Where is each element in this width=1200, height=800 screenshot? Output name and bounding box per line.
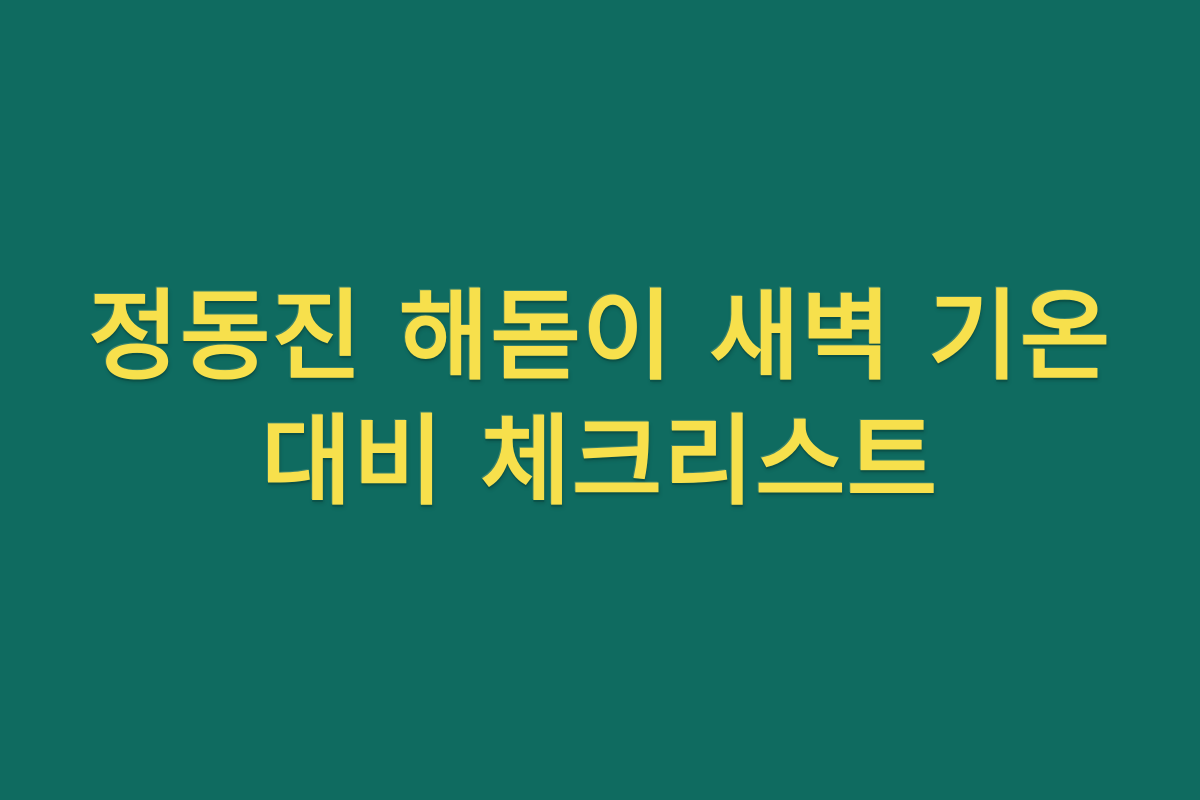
title-card: 정동진 해돋이 새벽 기온 대비 체크리스트 xyxy=(0,0,1200,800)
headline-block: 정동진 해돋이 새벽 기온 대비 체크리스트 xyxy=(40,275,1160,526)
headline-line-2: 대비 체크리스트 xyxy=(40,400,1160,525)
headline-line-1: 정동진 해돋이 새벽 기온 xyxy=(40,275,1160,400)
